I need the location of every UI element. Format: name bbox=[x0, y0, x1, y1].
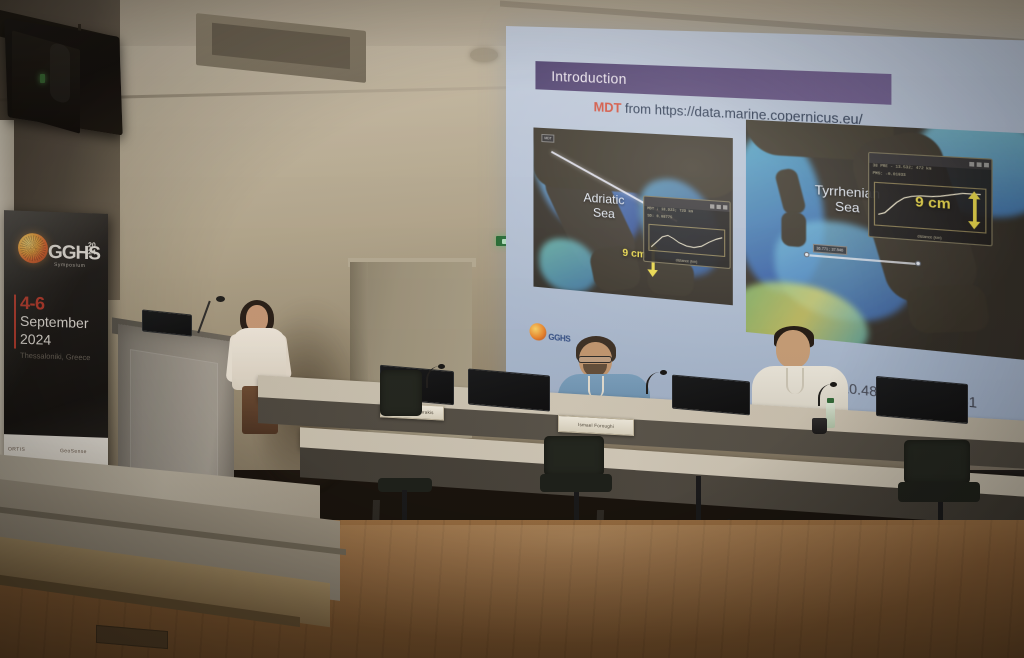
lanyard bbox=[786, 368, 804, 394]
gghs-globe-icon bbox=[530, 322, 547, 341]
inset-profile-tyrrhenian: 38 PRE - 13.532; 472 km PMS: -0.01033 9 … bbox=[868, 152, 993, 247]
slide-title: Introduction bbox=[551, 68, 626, 86]
glasses-icon bbox=[578, 356, 612, 363]
coffee-cup bbox=[812, 418, 827, 434]
slide-title-bar: Introduction bbox=[535, 61, 891, 105]
conference-room-photo: Introduction MDT from https://data.marin… bbox=[0, 0, 1024, 658]
water-bottle bbox=[826, 402, 835, 428]
placard-right-name: Ismael Foroughi bbox=[578, 422, 614, 429]
annotation-9cm-tyrrhenian: 9 cm bbox=[915, 193, 951, 212]
podium-microphone-icon bbox=[216, 296, 225, 302]
inset-profile-adriatic: MDT ; 18.923; 729 km SD: 0.08775 distanc… bbox=[643, 195, 730, 269]
sponsor-logo-2: GeoSense bbox=[60, 448, 87, 455]
event-rollup-banner: GGHS 20 24 Symposium 4-6 September 2024 … bbox=[4, 210, 108, 482]
map-tyrrhenian: Tyrrhenian Sea 36.771 ; 37.946 38 PRE - … bbox=[746, 120, 1024, 360]
sponsor-logo-1: ORTIS bbox=[8, 446, 25, 453]
speaker-power-led-icon bbox=[40, 74, 45, 83]
map-label-adriatic: Adriatic Sea bbox=[571, 190, 637, 223]
ceiling-smoke-detector bbox=[470, 48, 498, 62]
map-adriatic: MDT Adriatic Sea 9 cm MDT ; 18.923; 729 … bbox=[533, 127, 732, 305]
arrow-up-down-icon bbox=[973, 198, 977, 223]
speaker-bass-port bbox=[50, 42, 70, 105]
slide-subtitle-accent: MDT bbox=[594, 100, 622, 116]
profile-curve bbox=[649, 225, 724, 258]
